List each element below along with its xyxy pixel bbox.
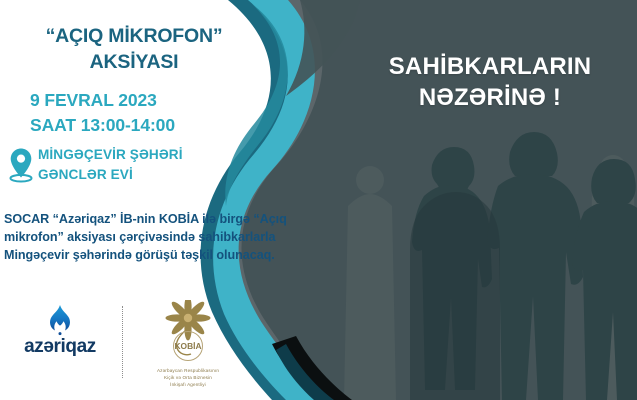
flower-icon: KOBİA bbox=[153, 300, 223, 366]
event-date: 9 FEVRAL 2023 bbox=[30, 88, 260, 113]
silhouette-front-row bbox=[410, 192, 500, 400]
azeriqaz-logo: azəriqaz bbox=[8, 304, 112, 356]
logo-divider bbox=[122, 306, 123, 378]
event-time: SAAT 13:00-14:00 bbox=[30, 113, 260, 138]
venue-block: MİNGƏÇEVİR ŞƏHƏRİ GƏNCLƏR EVİ bbox=[8, 145, 288, 186]
logo-row: azəriqaz bbox=[0, 300, 250, 400]
kobia-subtitle: Azərbaycan Respublikasının Kiçik və Orta… bbox=[134, 367, 242, 388]
body-copy: SOCAR “Azəriqaz” İB-nin KOBİA ilə birgə … bbox=[4, 210, 294, 264]
location-pin-icon bbox=[8, 147, 34, 183]
flame-icon bbox=[45, 304, 75, 336]
venue-line-2: GƏNCLƏR EVİ bbox=[38, 165, 183, 185]
kobia-wordmark: KOBİA bbox=[175, 341, 202, 351]
headline-line-1: SAHİBKARLARIN bbox=[348, 52, 632, 83]
kobia-subtitle-line-3: İnkişafı Agentliyi bbox=[134, 381, 242, 388]
left-content-column: “AÇIQ MİKROFON” AKSİYASI 9 FEVRAL 2023 S… bbox=[0, 0, 300, 400]
kobia-subtitle-line-2: Kiçik və Orta Biznesin bbox=[134, 374, 242, 381]
venue-line-1: MİNGƏÇEVİR ŞƏHƏRİ bbox=[38, 145, 183, 165]
venue-text: MİNGƏÇEVİR ŞƏHƏRİ GƏNCLƏR EVİ bbox=[38, 145, 183, 186]
kobia-subtitle-line-1: Azərbaycan Respublikasının bbox=[134, 367, 242, 374]
headline-line-2: NƏZƏRİNƏ ! bbox=[348, 83, 632, 114]
date-time-block: 9 FEVRAL 2023 SAAT 13:00-14:00 bbox=[30, 88, 260, 138]
event-title: “AÇIQ MİKROFON” AKSİYASI bbox=[8, 24, 260, 75]
headline: SAHİBKARLARIN NƏZƏRİNƏ ! bbox=[348, 52, 632, 113]
event-title-line-2: AKSİYASI bbox=[8, 50, 260, 76]
body-copy-text: SOCAR “Azəriqaz” İB-nin KOBİA ilə birgə … bbox=[4, 210, 294, 264]
kobia-logo: KOBİA Azərbaycan Respublikasının Kiçik v… bbox=[134, 300, 242, 388]
azeriqaz-wordmark: azəriqaz bbox=[8, 337, 112, 356]
event-title-line-1: “AÇIQ MİKROFON” bbox=[8, 24, 260, 50]
poster-canvas: “AÇIQ MİKROFON” AKSİYASI 9 FEVRAL 2023 S… bbox=[0, 0, 637, 400]
